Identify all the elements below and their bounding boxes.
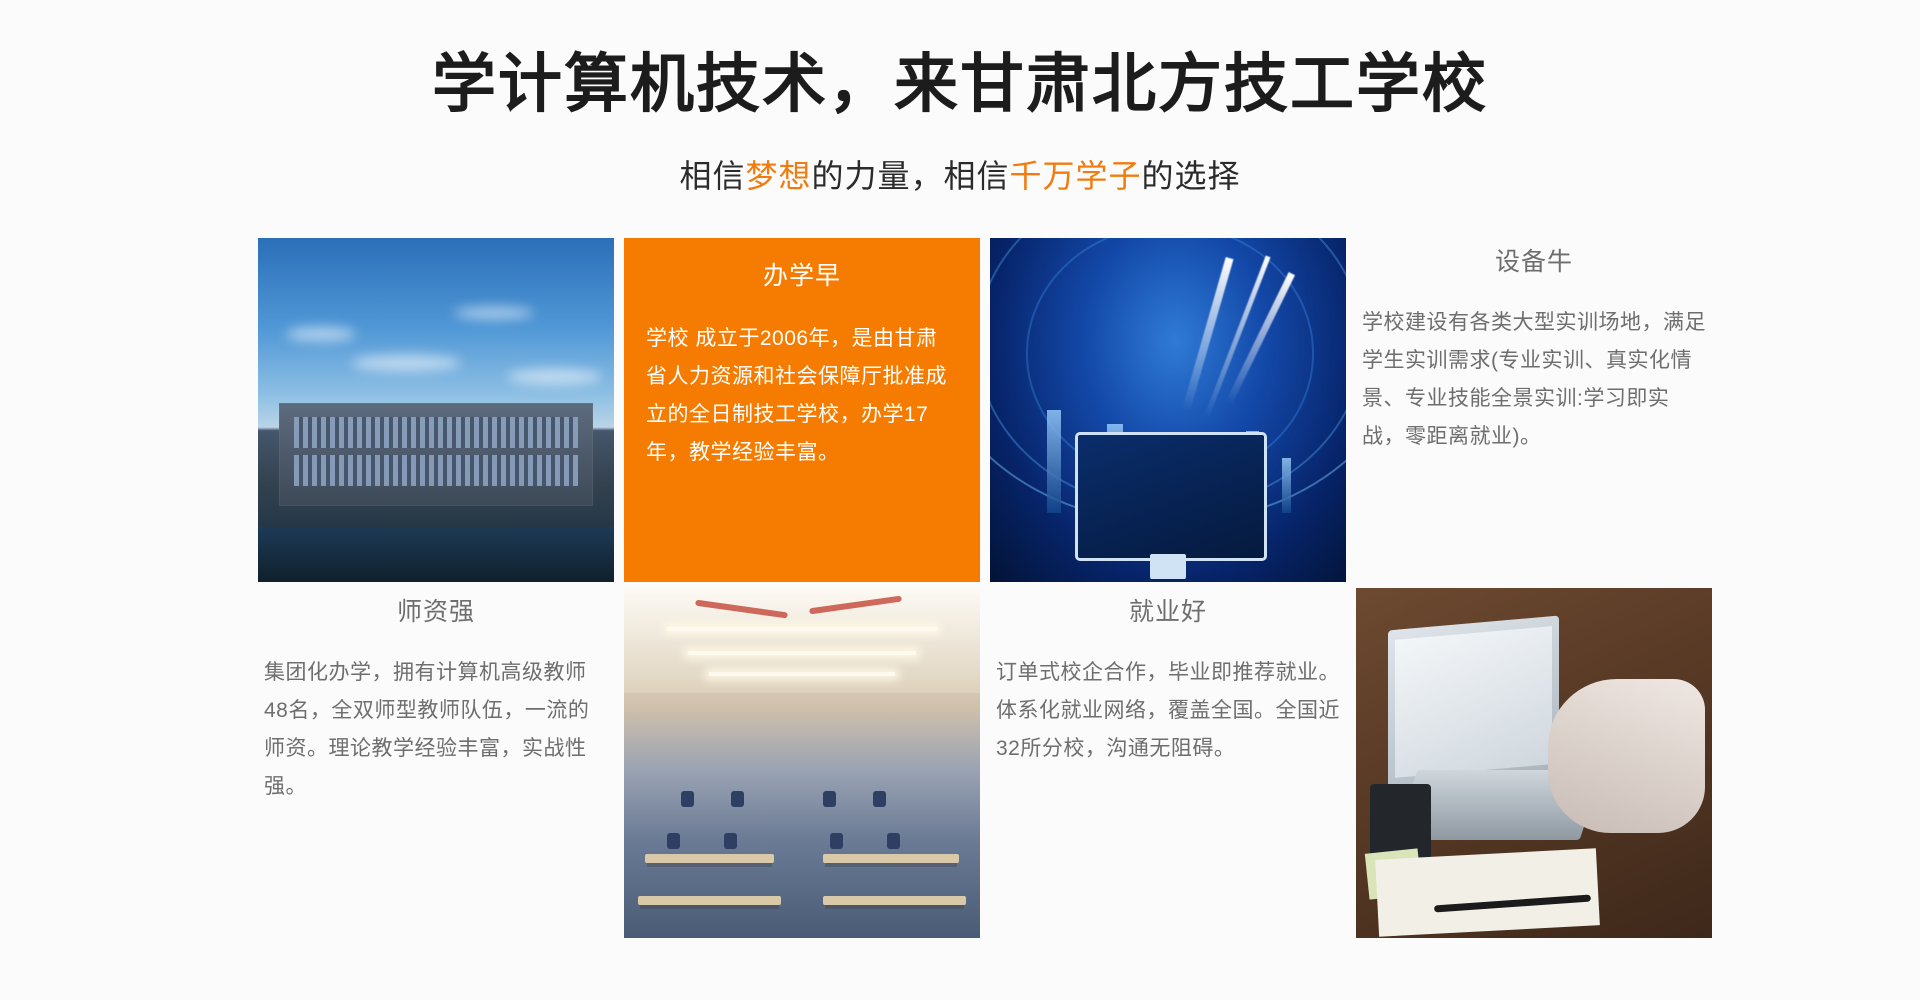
campus-photo-cell [258, 238, 614, 582]
promo-poster: 学计算机技术，来甘肃北方技工学校 相信梦想的力量，相信千万学子的选择 办学早 学… [0, 0, 1920, 1000]
laptop-photo-cell [1356, 588, 1712, 938]
employment-card: 就业好 订单式校企合作，毕业即推荐就业。体系化就业网络，覆盖全国。全国近32所分… [990, 588, 1346, 938]
feature-grid: 办学早 学校 成立于2006年，是由甘肃省人力资源和社会保障厅批准成立的全日制技… [258, 238, 1718, 938]
employment-card-caption: 就业好 [996, 596, 1340, 628]
tech-photo-cell [990, 238, 1346, 582]
campus-building-photo [258, 238, 614, 582]
subtitle-part-2-highlight: 梦想 [745, 158, 811, 194]
subtitle-part-4-highlight: 千万学子 [1010, 158, 1142, 194]
page-subtitle: 相信梦想的力量，相信千万学子的选择 [0, 156, 1920, 196]
blue-tech-city-photo [990, 238, 1346, 582]
faculty-card: 师资强 集团化办学，拥有计算机高级教师48名，全双师型教师队伍，一流的师资。理论… [258, 588, 614, 938]
subtitle-part-5: 的选择 [1142, 158, 1241, 194]
faculty-card-caption: 师资强 [264, 596, 608, 628]
employment-card-body: 订单式校企合作，毕业即推荐就业。体系化就业网络，覆盖全国。全国近32所分校，沟通… [996, 654, 1340, 768]
classroom-students-photo [624, 588, 980, 938]
founding-card-body: 学校 成立于2006年，是由甘肃省人力资源和社会保障厅批准成立的全日制技工学校，… [646, 320, 958, 472]
equipment-card-body: 学校建设有各类大型实训场地，满足学生实训需求(专业实训、真实化情景、专业技能全景… [1362, 304, 1706, 456]
subtitle-part-1: 相信 [679, 158, 745, 194]
faculty-card-body: 集团化办学，拥有计算机高级教师48名，全双师型教师队伍，一流的师资。理论教学经验… [264, 654, 608, 806]
founding-card-caption: 办学早 [646, 260, 958, 292]
founding-card: 办学早 学校 成立于2006年，是由甘肃省人力资源和社会保障厅批准成立的全日制技… [624, 238, 980, 582]
equipment-card: 设备牛 学校建设有各类大型实训场地，满足学生实训需求(专业实训、真实化情景、专业… [1356, 238, 1712, 582]
laptop-desk-photo [1356, 588, 1712, 938]
subtitle-part-3: 的力量，相信 [811, 158, 1009, 194]
page-title: 学计算机技术，来甘肃北方技工学校 [0, 46, 1920, 122]
equipment-card-caption: 设备牛 [1362, 246, 1706, 278]
classroom-photo-cell [624, 588, 980, 938]
